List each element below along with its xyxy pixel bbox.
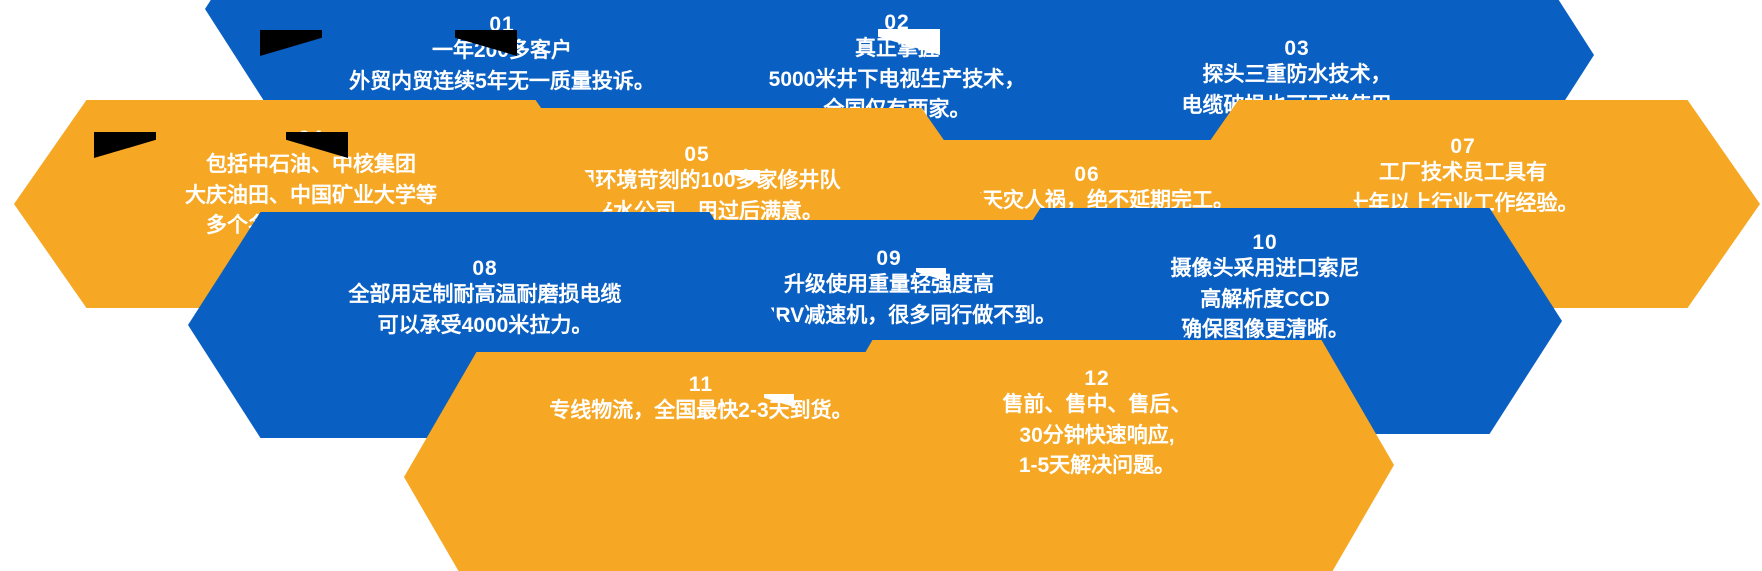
info-cell-07-number: 07 (1450, 136, 1475, 158)
info-cell-10-text: 摄像头采用进口索尼 高解析度CCD 确保图像更清晰。 (1161, 254, 1370, 346)
info-cell-08-text: 全部用定制耐高温耐磨损电缆 可以承受4000米拉力。 (339, 280, 632, 341)
infographic-canvas: 03 探头三重防水技术， 电缆破损也可正常使用。 02 真正掌握 5000米井下… (0, 0, 1762, 571)
info-cell-10-number: 10 (1252, 232, 1277, 254)
info-cell-06-number: 06 (1074, 164, 1099, 186)
info-cell-02-number: 02 (884, 12, 909, 34)
info-cell-09-number: 09 (876, 248, 901, 270)
info-cell-12-number: 12 (1084, 368, 1109, 390)
info-cell-11-text: 专线物流，全国最快2-3天到货。 (539, 396, 862, 427)
info-cell-04-number: 04 (298, 128, 323, 150)
info-cell-05-number: 05 (684, 144, 709, 166)
info-cell-08-number: 08 (472, 258, 497, 280)
info-cell-11-number: 11 (689, 374, 713, 396)
info-cell-01-text: 一年200多客户 外贸内贸连续5年无一质量投诉。 (339, 36, 665, 97)
info-cell-03-number: 03 (1284, 38, 1309, 60)
info-cell-01-number: 01 (489, 14, 514, 36)
info-cell-12-text: 售前、售中、售后、 30分钟快速响应, 1-5天解决问题。 (993, 390, 1202, 482)
info-cell-11: 11 专线物流，全国最快2-3天到货。 (404, 352, 998, 571)
